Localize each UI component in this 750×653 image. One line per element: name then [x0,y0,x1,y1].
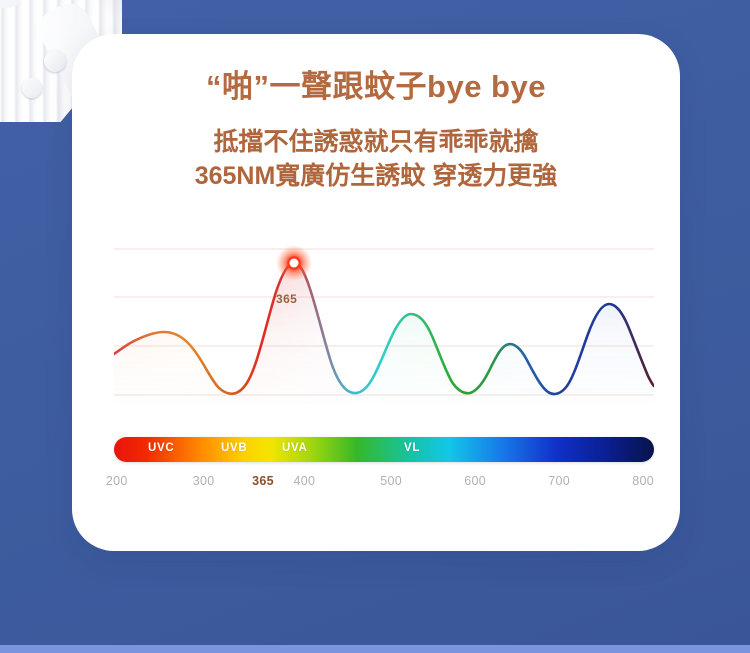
band-label-uvc: UVC [148,442,174,454]
peak-value-label: 365 [276,292,297,306]
product-promo-page: “啪”一聲跟蚊子bye bye 抵擋不住誘惑就只有乖乖就擒 365NM寬廣仿生誘… [0,0,750,653]
spectrum-wave-chart [114,244,654,409]
axis-tick-700: 700 [548,474,570,488]
band-label-uva: UVA [282,442,308,454]
subtitle: 抵擋不住誘惑就只有乖乖就擒 365NM寬廣仿生誘蚊 穿透力更強 [72,125,680,194]
subtitle-line-2: 365NM寬廣仿生誘蚊 穿透力更強 [72,159,680,194]
axis-tick-800: 800 [632,474,654,488]
axis-tick-300: 300 [193,474,215,488]
bottom-accent-strip [0,645,750,653]
axis-tick-200: 200 [106,474,128,488]
wave-area-fill [114,263,654,404]
wave-chart-svg [114,244,654,409]
page-title: “啪”一聲跟蚊子bye bye [72,34,680,107]
wavelength-axis: 200 300 365 400 500 600 700 800 [114,474,674,492]
spectrum-bar: UVC UVB UVA VL [114,437,654,462]
axis-tick-400: 400 [294,474,316,488]
peak-marker-dot[interactable] [288,257,299,268]
subtitle-line-1: 抵擋不住誘惑就只有乖乖就擒 [72,125,680,160]
axis-tick-365: 365 [252,474,274,488]
band-label-uvb: UVB [221,442,247,454]
band-label-vl: VL [404,442,420,454]
axis-tick-500: 500 [380,474,402,488]
content-card: “啪”一聲跟蚊子bye bye 抵擋不住誘惑就只有乖乖就擒 365NM寬廣仿生誘… [72,34,680,551]
product-button-upper [44,50,66,72]
axis-tick-600: 600 [464,474,486,488]
product-button-lower [22,78,42,98]
